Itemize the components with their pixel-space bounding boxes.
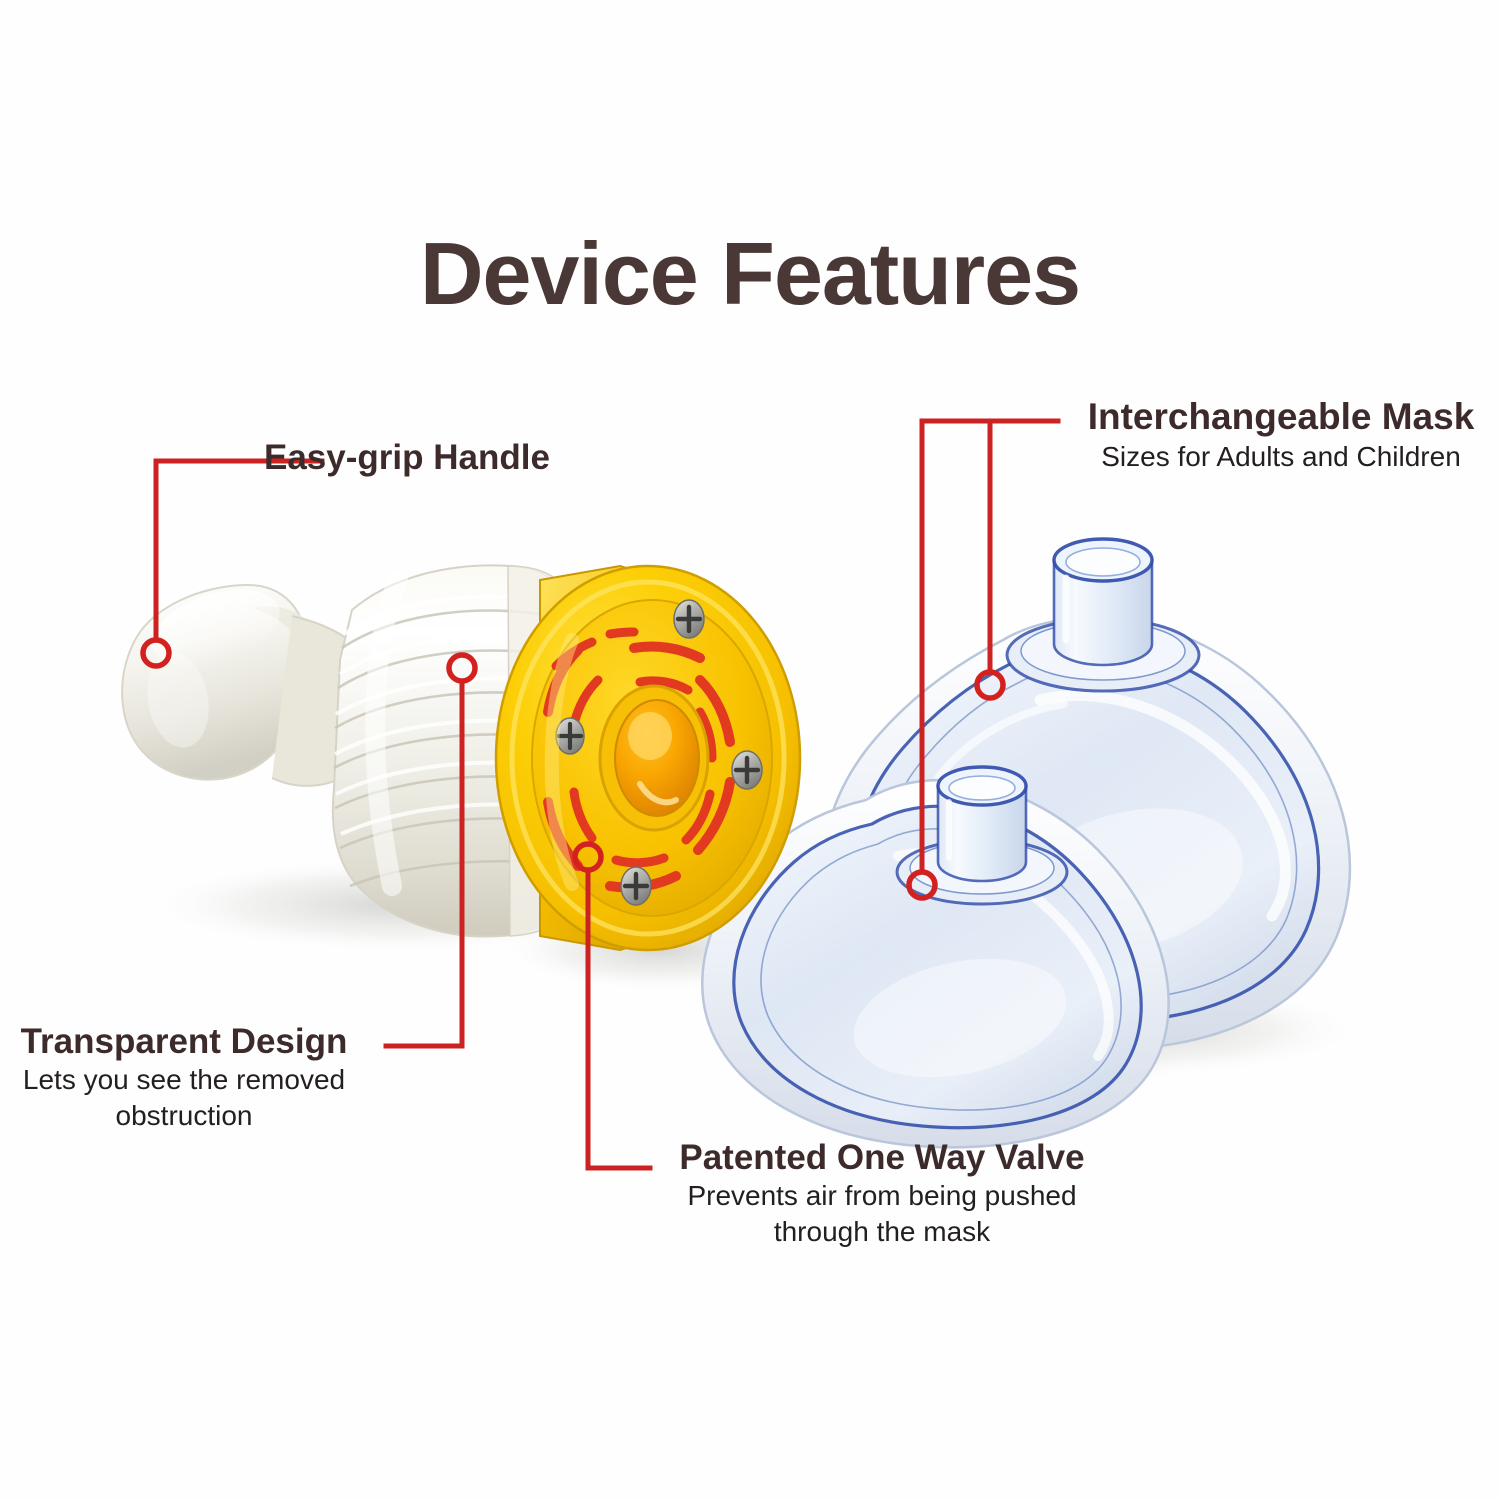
red-ring-marker-bellows	[449, 655, 475, 681]
callout-patented-one-way-valve: Patented One Way Valve Prevents air from…	[656, 1138, 1108, 1250]
callout-interchangeable-mask: Interchangeable Mask Sizes for Adults an…	[1068, 396, 1494, 474]
leader-line-valve	[588, 870, 650, 1168]
red-ring-marker-mask-small	[909, 872, 935, 898]
callout-heading: Transparent Design	[0, 1022, 376, 1062]
leader-line-transparent	[386, 681, 462, 1046]
leader-line-handle	[156, 461, 322, 640]
callout-heading: Patented One Way Valve	[656, 1138, 1108, 1178]
red-ring-marker-valve	[575, 844, 601, 870]
callout-subtext-line: Lets you see the removed	[0, 1062, 376, 1098]
callout-subtext-line: Sizes for Adults and Children	[1068, 439, 1494, 475]
callout-subtext-line: obstruction	[0, 1098, 376, 1134]
callout-subtext-line: through the mask	[656, 1214, 1108, 1250]
red-ring-marker-mask-large	[977, 672, 1003, 698]
callout-subtext-line: Prevents air from being pushed	[656, 1178, 1108, 1214]
callout-heading: Interchangeable Mask	[1068, 396, 1494, 439]
callout-heading: Easy-grip Handle	[264, 438, 550, 478]
red-ring-marker-handle	[143, 640, 169, 666]
callout-easy-grip-handle: Easy-grip Handle	[264, 438, 550, 478]
page-title: Device Features	[0, 228, 1500, 320]
infographic-canvas: Device Features Easy-grip Handle Interch…	[0, 0, 1500, 1500]
callout-transparent-design: Transparent Design Lets you see the remo…	[0, 1022, 376, 1134]
